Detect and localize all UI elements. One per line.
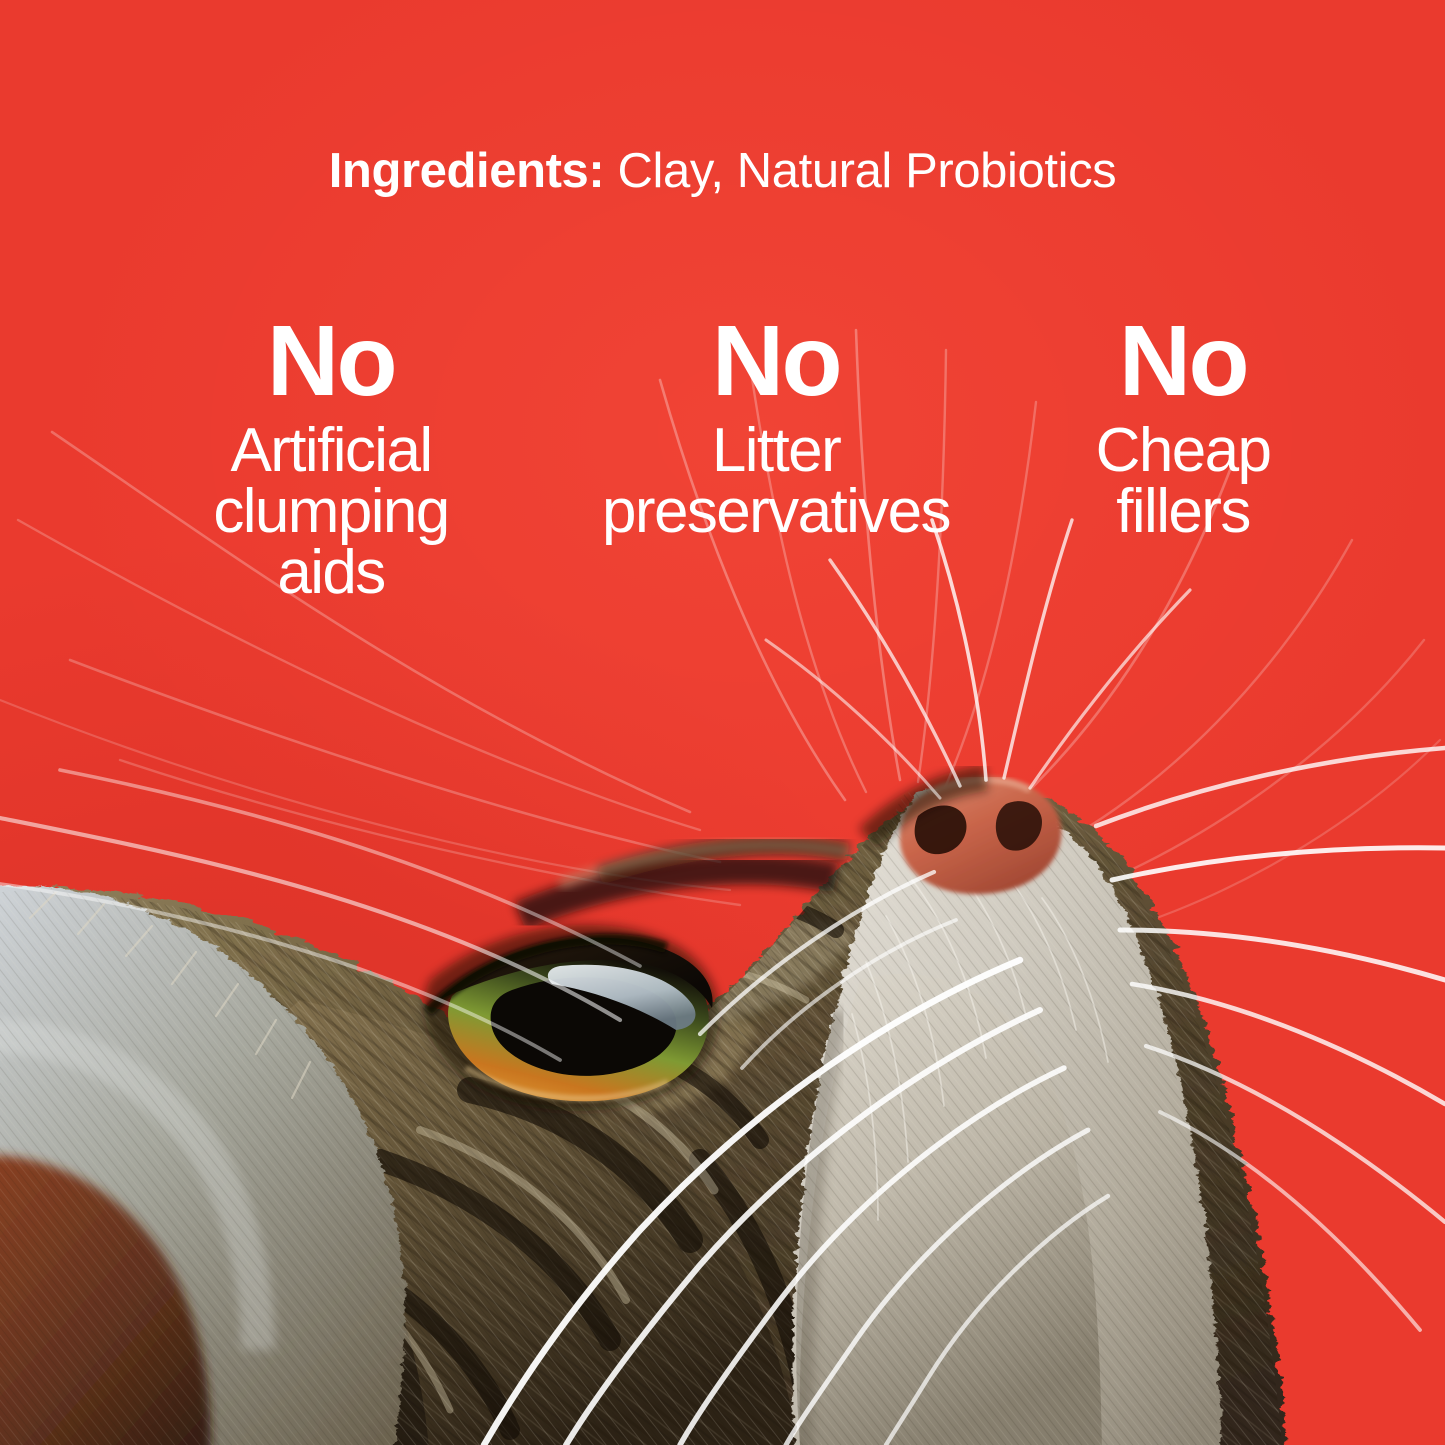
product-feature-poster: Ingredients: Clay, Natural Probiotics No… bbox=[0, 0, 1445, 1445]
claim-0-line-1: Artificial bbox=[126, 420, 536, 481]
claim-0-line-3: aids bbox=[126, 542, 536, 603]
claim-1-line-2: preservatives bbox=[536, 481, 1016, 542]
background-whiskers bbox=[0, 0, 1445, 1445]
claim-2-line-1: Cheap bbox=[1018, 420, 1348, 481]
claim-2-line-2: fillers bbox=[1018, 481, 1348, 542]
cat-photo bbox=[0, 0, 1445, 1445]
claim-cheap-fillers: No Cheap fillers bbox=[1018, 312, 1348, 542]
claims-row: No Artificial clumping aids No Litter pr… bbox=[0, 312, 1445, 652]
claim-1-line-1: Litter bbox=[536, 420, 1016, 481]
ingredients-value: Clay, Natural Probiotics bbox=[618, 144, 1117, 198]
claim-artificial-clumping-aids: No Artificial clumping aids bbox=[126, 312, 536, 603]
claim-0-line-2: clumping bbox=[126, 481, 536, 542]
foreground-whiskers bbox=[0, 0, 1445, 1445]
ingredients-label: Ingredients: bbox=[329, 144, 605, 198]
claim-0-no: No bbox=[126, 312, 536, 410]
ingredients-line: Ingredients: Clay, Natural Probiotics bbox=[0, 142, 1445, 200]
claim-litter-preservatives: No Litter preservatives bbox=[536, 312, 1016, 542]
claim-1-no: No bbox=[536, 312, 1016, 410]
background-shading bbox=[0, 0, 1445, 1445]
claim-2-no: No bbox=[1018, 312, 1348, 410]
cat-eye bbox=[424, 925, 719, 1111]
ingredients-spacer bbox=[604, 144, 617, 198]
